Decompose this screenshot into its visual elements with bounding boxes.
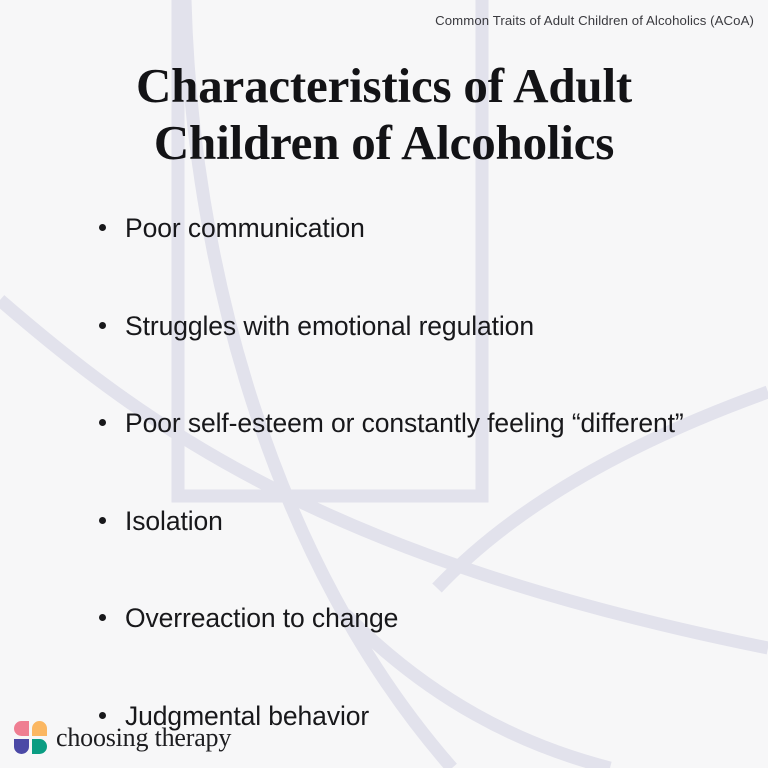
list-item: Isolation [92, 489, 732, 554]
choosing-therapy-mark-icon [14, 721, 47, 754]
list-item-label: Poor self-esteem or constantly feeling “… [125, 391, 732, 456]
list-item-label: Overreaction to change [125, 586, 732, 651]
list-item-label: Poor communication [125, 196, 732, 261]
list-item: Overreaction to change [92, 586, 732, 651]
logo-quadrant-top-left [14, 721, 29, 736]
bullet-dot-icon [99, 614, 106, 621]
bullet-dot-icon [99, 419, 106, 426]
bullet-dot-icon [99, 712, 106, 719]
list-item: Poor communication [92, 196, 732, 261]
logo-quadrant-bottom-left [14, 739, 29, 754]
bullet-dot-icon [99, 224, 106, 231]
bullet-dot-icon [99, 517, 106, 524]
trait-list: Poor communication Struggles with emotio… [92, 196, 732, 768]
slide-canvas: Common Traits of Adult Children of Alcoh… [0, 0, 768, 768]
logo-wordmark: choosing therapy [56, 723, 231, 753]
page-title: Characteristics of Adult Children of Alc… [54, 57, 714, 171]
bullet-dot-icon [99, 322, 106, 329]
logo-quadrant-bottom-right [32, 739, 47, 754]
title-block: Characteristics of Adult Children of Alc… [54, 57, 714, 171]
list-item-label: Isolation [125, 489, 732, 554]
header-caption: Common Traits of Adult Children of Alcoh… [435, 12, 754, 30]
brand-logo[interactable]: choosing therapy [14, 721, 231, 754]
list-item: Poor self-esteem or constantly feeling “… [92, 391, 732, 456]
list-item-label: Struggles with emotional regulation [125, 294, 732, 359]
list-item: Struggles with emotional regulation [92, 294, 732, 359]
logo-quadrant-top-right [32, 721, 47, 736]
